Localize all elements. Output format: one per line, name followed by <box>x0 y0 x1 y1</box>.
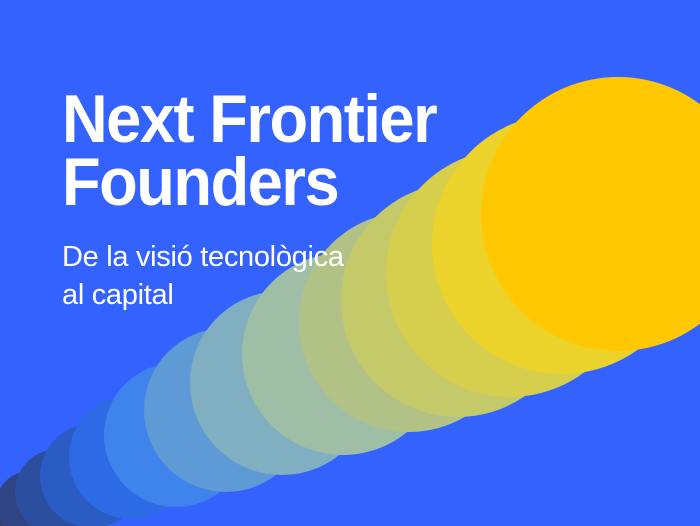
page-title-line-2: Founders <box>62 151 546 214</box>
poster-canvas: Next Frontier Founders De la visió tecno… <box>0 0 700 526</box>
page-subtitle: De la visió tecnològica al capital <box>62 214 412 313</box>
page-subtitle-line-2: al capital <box>62 277 412 314</box>
page-title-line-1: Next Frontier <box>62 88 546 151</box>
page-subtitle-line-1: De la visió tecnològica <box>62 239 412 276</box>
poster-text-block: Next Frontier Founders De la visió tecno… <box>62 88 582 314</box>
